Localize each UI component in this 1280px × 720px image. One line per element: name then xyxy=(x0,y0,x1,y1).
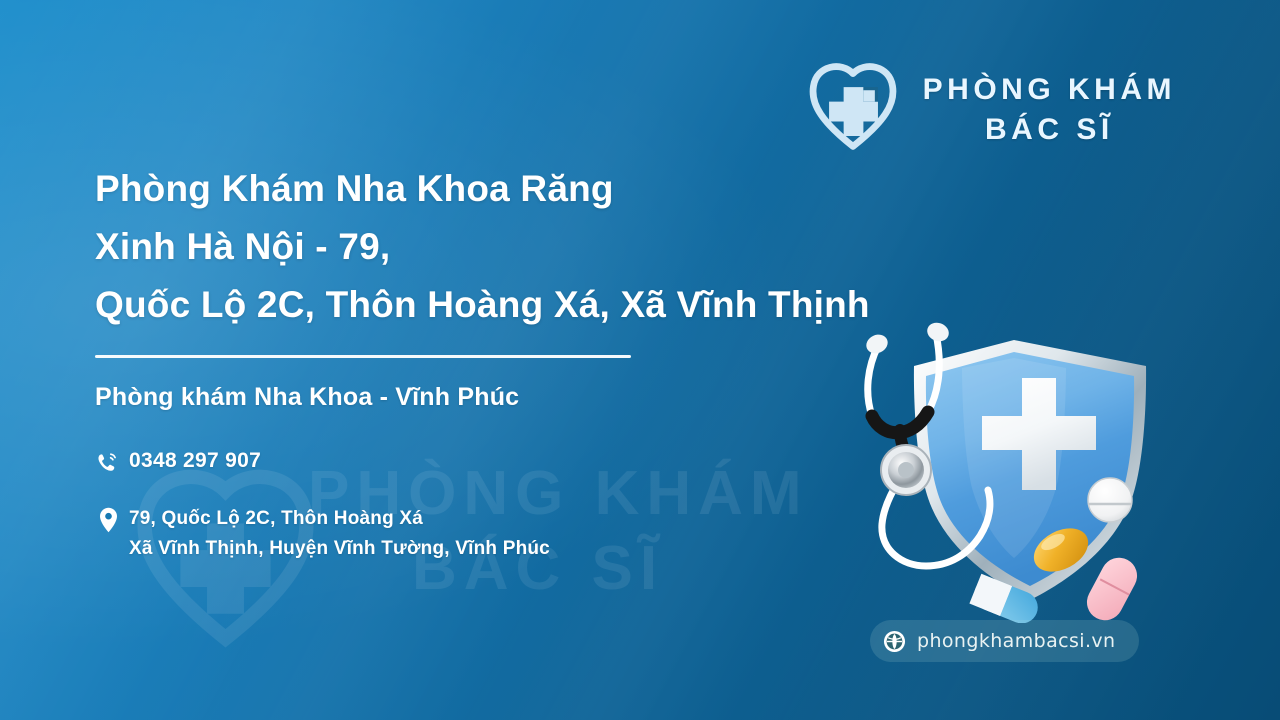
pink-capsule xyxy=(1081,551,1144,623)
brand-logo-line-1: PHÒNG KHÁM xyxy=(923,74,1176,106)
phone-number: 0348 297 907 xyxy=(129,448,261,473)
address-line-2: Xã Vĩnh Thịnh, Huyện Vĩnh Tường, Vĩnh Ph… xyxy=(129,534,550,564)
title-line-2: Xinh Hà Nội - 79, xyxy=(95,218,1035,276)
medical-illustration xyxy=(838,318,1198,623)
phone-call-icon xyxy=(95,448,129,476)
round-tablet xyxy=(1088,478,1132,522)
medical-cross-heart-icon xyxy=(801,58,905,162)
page-title: Phòng Khám Nha Khoa Răng Xinh Hà Nội - 7… xyxy=(95,160,1035,334)
map-pin-icon xyxy=(95,504,129,533)
website-badge[interactable]: phongkhambacsi.vn xyxy=(870,620,1139,662)
website-url: phongkhambacsi.vn xyxy=(917,630,1115,652)
divider xyxy=(95,355,631,358)
address: 79, Quốc Lộ 2C, Thôn Hoàng Xá Xã Vĩnh Th… xyxy=(129,504,550,564)
brand-logo-line-2: BÁC SĨ xyxy=(923,114,1176,146)
brand-logo: PHÒNG KHÁM BÁC SĨ xyxy=(801,58,1176,162)
brand-logo-text: PHÒNG KHÁM BÁC SĨ xyxy=(923,74,1176,146)
address-line-1: 79, Quốc Lộ 2C, Thôn Hoàng Xá xyxy=(129,504,550,534)
title-line-1: Phòng Khám Nha Khoa Răng xyxy=(95,160,1035,218)
clinic-banner: PHÒNG KHÁM BÁC SĨ PHÒNG KHÁM BÁC SĨ Phòn… xyxy=(0,0,1280,720)
globe-icon xyxy=(883,630,906,653)
